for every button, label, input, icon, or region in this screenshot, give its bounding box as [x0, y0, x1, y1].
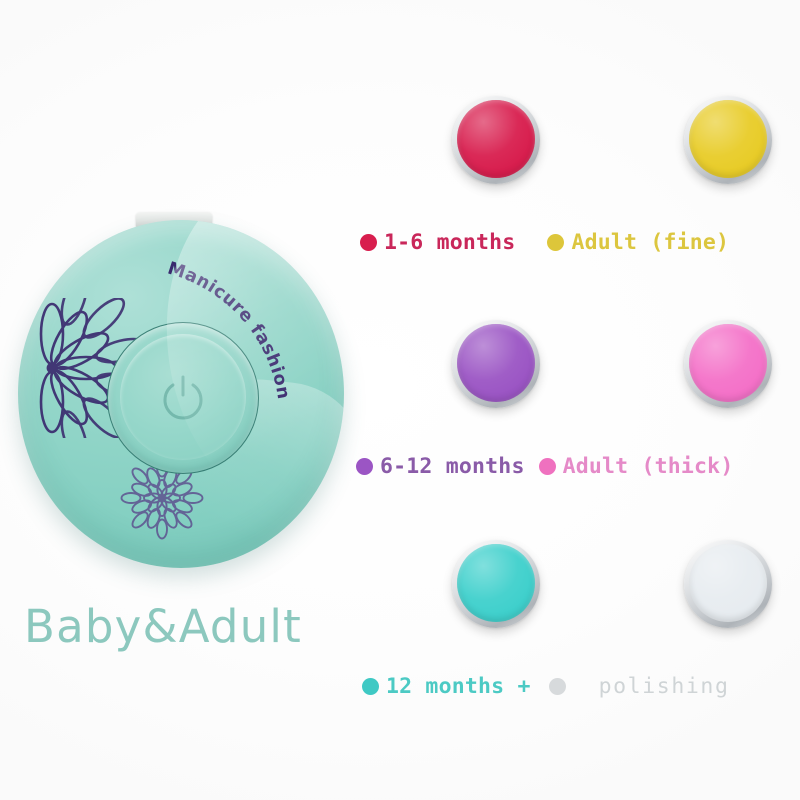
power-button[interactable] [107, 322, 259, 474]
grinder-disc-4[interactable] [452, 540, 540, 628]
grinder-row-2: 12 months + polishing [352, 540, 800, 730]
legend-dot-icon [539, 458, 556, 475]
disc-pad [457, 100, 535, 178]
disc-pad [689, 324, 767, 402]
legend-item-0: 1-6 months [360, 230, 515, 255]
grinder-disc-1[interactable] [684, 96, 772, 184]
grinder-head-4[interactable] [396, 540, 596, 660]
grinder-legend-row-2: 12 months + polishing [352, 666, 800, 706]
legend-label-2: 6-12 months [380, 454, 525, 479]
disc-pad [457, 544, 535, 622]
legend-dot-icon [549, 678, 566, 695]
power-icon [159, 373, 207, 421]
disc-pad [457, 324, 535, 402]
legend-item-3: Adult (thick) [539, 454, 734, 479]
grinder-disc-2[interactable] [452, 320, 540, 408]
legend-item-5: polishing [549, 674, 730, 699]
legend-label-5: polishing [599, 674, 730, 699]
legend-label-3: Adult (thick) [563, 454, 734, 479]
legend-item-1: Adult (fine) [547, 230, 729, 255]
baby-adult-wordmark: Baby&Adult [24, 600, 302, 653]
disc-pad [689, 100, 767, 178]
grinder-disc-3[interactable] [684, 320, 772, 408]
disc-pad [689, 544, 767, 622]
legend-item-4: 12 months + [362, 674, 531, 699]
grinder-disc-5[interactable] [684, 540, 772, 628]
legend-dot-icon [360, 234, 377, 251]
legend-label-4: 12 months + [386, 674, 531, 699]
power-button-face [120, 334, 246, 460]
grinder-disc-0[interactable] [452, 96, 540, 184]
grinder-row-1: 6-12 months Adult (thick) [352, 320, 800, 510]
grinder-head-5[interactable] [628, 540, 800, 660]
grinder-head-grid: 1-6 months Adult (fine) [352, 96, 800, 712]
grinder-legend-row-1: 6-12 months Adult (thick) [352, 446, 800, 486]
legend-label-0: 1-6 months [384, 230, 515, 255]
legend-dot-icon [362, 678, 379, 695]
grinder-legend-row-0: 1-6 months Adult (fine) [352, 222, 800, 262]
legend-dot-icon [356, 458, 373, 475]
manicure-device: Manicure fashion [14, 200, 354, 580]
grinder-head-2[interactable] [396, 320, 596, 440]
grinder-row-0: 1-6 months Adult (fine) [352, 96, 800, 286]
device-body: Manicure fashion [18, 220, 344, 568]
legend-item-2: 6-12 months [356, 454, 525, 479]
grinder-head-0[interactable] [396, 96, 596, 216]
grinder-head-1[interactable] [628, 96, 800, 216]
grinder-head-3[interactable] [628, 320, 800, 440]
product-image-canvas: Manicure fashion Baby&Adult [0, 0, 800, 800]
legend-dot-icon [547, 234, 564, 251]
legend-label-1: Adult (fine) [571, 230, 729, 255]
